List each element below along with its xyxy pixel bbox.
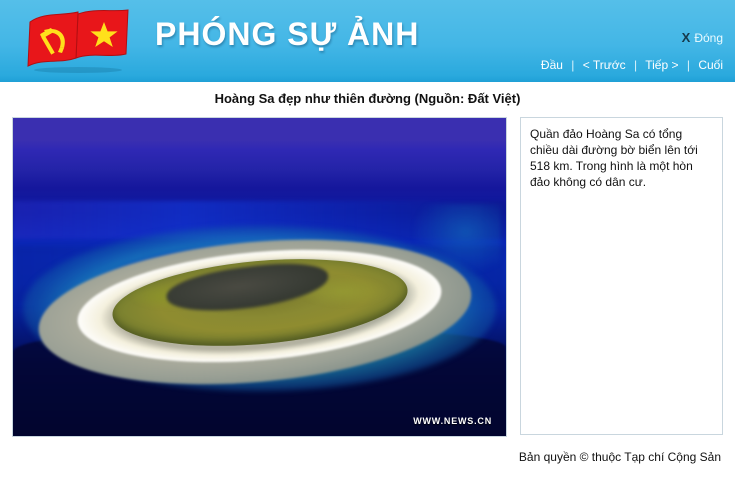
caption-panel: Quần đảo Hoàng Sa có tổng chiều dài đườn… xyxy=(520,117,723,435)
photo-watermark: WWW.NEWS.CN xyxy=(413,416,492,426)
nav-first[interactable]: Đầu xyxy=(541,58,563,72)
nav-separator-2: | xyxy=(634,58,637,72)
photo-story-title: Hoàng Sa đẹp như thiên đường (Nguồn: Đất… xyxy=(0,82,735,106)
nav-separator-3: | xyxy=(687,58,690,72)
page-title: PHÓNG SỰ ẢNH xyxy=(155,16,419,53)
footer-copyright: Bản quyền © thuộc Tạp chí Cộng Sản xyxy=(0,450,735,464)
vietnam-communist-flags-logo xyxy=(16,6,136,76)
nav-separator-1: | xyxy=(571,58,574,72)
nav-last[interactable]: Cuối xyxy=(698,58,723,72)
photo-viewer[interactable]: WWW.NEWS.CN xyxy=(12,117,507,437)
close-icon: X xyxy=(682,30,691,45)
page-header: PHÓNG SỰ ẢNH XĐóng Đầu | < Trước | Tiếp … xyxy=(0,0,735,82)
photo-image xyxy=(13,118,506,436)
close-button[interactable]: XĐóng xyxy=(682,30,723,45)
pager-nav: Đầu | < Trước | Tiếp > | Cuối xyxy=(541,58,723,72)
nav-next[interactable]: Tiếp > xyxy=(645,58,678,72)
nav-prev[interactable]: < Trước xyxy=(583,58,626,72)
close-label: Đóng xyxy=(694,31,723,45)
caption-text: Quần đảo Hoàng Sa có tổng chiều dài đườn… xyxy=(530,126,713,190)
